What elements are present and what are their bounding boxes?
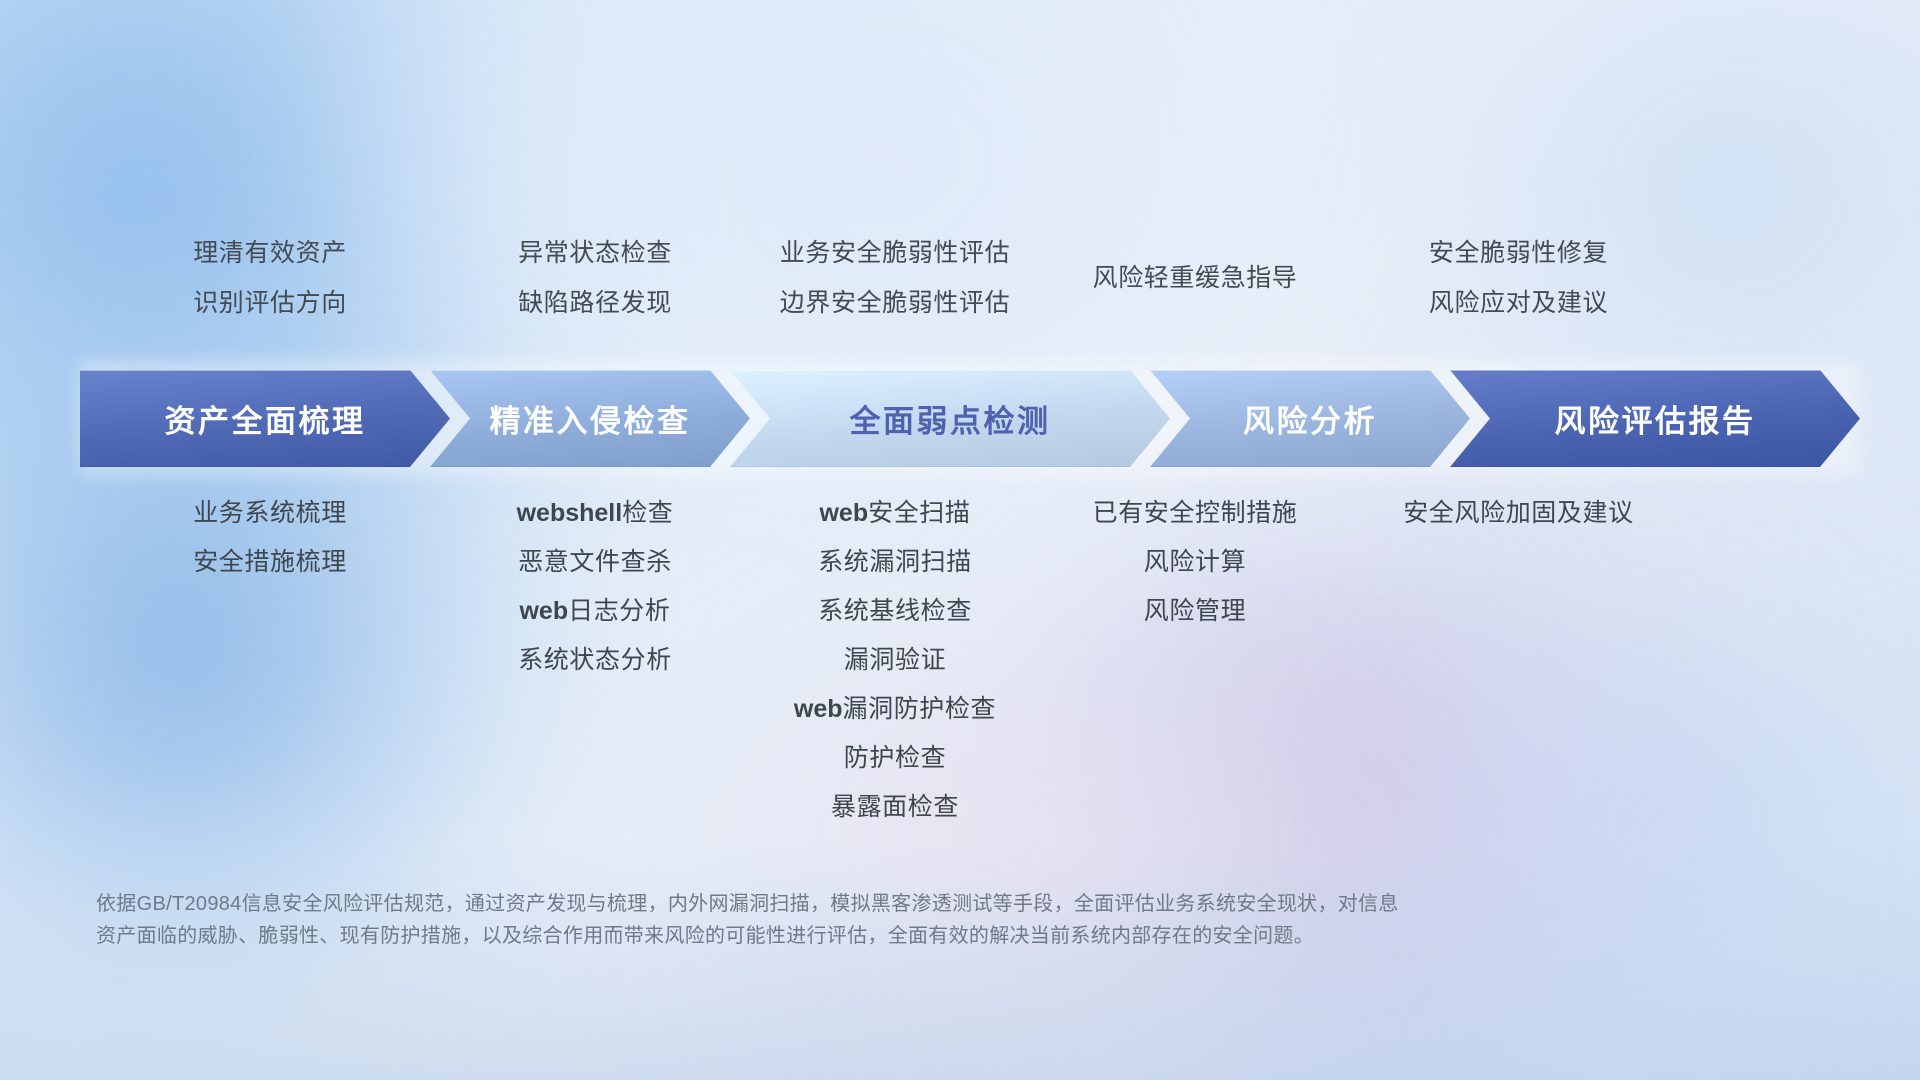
stage-column-2: 异常状态检查 缺陷路径发现 webshell检查 恶意文件查杀 web日志分析 …	[445, 228, 745, 832]
stage-3-bottom-item: 暴露面检查	[831, 783, 959, 832]
process-stage-4-label: 风险分析	[1243, 396, 1377, 441]
stage-3-bottom-item: 防护检查	[844, 734, 946, 783]
stage-3-bottom-item: 漏洞验证	[844, 636, 946, 685]
stage-4-bottom-list: 已有安全控制措施 风险计算 风险管理	[1045, 453, 1345, 636]
stage-3-bottom-item: 系统基线检查	[818, 587, 972, 636]
process-stage-4[interactable]: 风险分析	[1150, 370, 1470, 467]
stage-1-top-item: 识别评估方向	[193, 278, 347, 328]
stage-2-bottom-item: webshell检查	[517, 489, 674, 538]
stage-5-top-list: 安全脆弱性修复 风险应对及建议	[1345, 228, 1692, 356]
process-arrow-banner: 资产全面梳理 精准入侵检查 全面弱点检测 风险分析 风险评估报告	[80, 370, 1860, 467]
stage-1-bottom-item: 安全措施梳理	[193, 538, 347, 587]
stage-2-bottom-item: 系统状态分析	[518, 636, 672, 685]
footer-description: 依据GB/T20984信息安全风险评估规范，通过资产发现与梳理，内外网漏洞扫描，…	[96, 888, 1596, 952]
stage-5-bottom-item: 安全风险加固及建议	[1403, 489, 1633, 538]
process-stage-1[interactable]: 资产全面梳理	[80, 370, 450, 467]
footer-line-1: 依据GB/T20984信息安全风险评估规范，通过资产发现与梳理，内外网漏洞扫描，…	[96, 888, 1596, 920]
stage-3-bottom-item: web漏洞防护检查	[794, 685, 996, 734]
stage-column-3: 业务安全脆弱性评估 边界安全脆弱性评估 web安全扫描 系统漏洞扫描 系统基线检…	[745, 228, 1045, 832]
stage-4-bottom-item: 已有安全控制措施	[1093, 489, 1298, 538]
process-stage-1-label: 资产全面梳理	[165, 396, 366, 441]
stage-1-top-item: 理清有效资产	[193, 228, 347, 278]
stage-column-4: 风险轻重缓急指导 已有安全控制措施 风险计算 风险管理	[1045, 228, 1345, 832]
process-stage-2[interactable]: 精准入侵检查	[430, 370, 750, 467]
process-stage-5[interactable]: 风险评估报告	[1450, 370, 1860, 467]
stage-3-bottom-item: 系统漏洞扫描	[818, 538, 972, 587]
stage-2-top-list: 异常状态检查 缺陷路径发现	[445, 228, 745, 356]
process-stage-2-label: 精准入侵检查	[490, 396, 691, 441]
stage-1-bottom-item: 业务系统梳理	[193, 489, 347, 538]
footer-line-2: 资产面临的威胁、脆弱性、现有防护措施，以及综合作用而带来风险的可能性进行评估，全…	[96, 920, 1596, 952]
stage-3-bottom-item: web安全扫描	[819, 489, 970, 538]
stage-1-bottom-list: 业务系统梳理 安全措施梳理	[95, 453, 445, 587]
stage-3-top-list: 业务安全脆弱性评估 边界安全脆弱性评估	[745, 228, 1045, 356]
process-stage-3-label: 全面弱点检测	[850, 396, 1051, 441]
slide-canvas: 理清有效资产 识别评估方向 业务系统梳理 安全措施梳理 异常状态检查 缺陷路径发…	[0, 0, 1920, 1080]
stage-5-top-item: 风险应对及建议	[1429, 278, 1608, 328]
stage-4-bottom-item: 风险管理	[1144, 587, 1246, 636]
stage-4-bottom-item: 风险计算	[1144, 538, 1246, 587]
stage-column-1: 理清有效资产 识别评估方向 业务系统梳理 安全措施梳理	[95, 228, 445, 832]
stage-3-bottom-list: web安全扫描 系统漏洞扫描 系统基线检查 漏洞验证 web漏洞防护检查 防护检…	[745, 453, 1045, 832]
stage-4-top-list: 风险轻重缓急指导	[1045, 228, 1345, 356]
stage-5-top-item: 安全脆弱性修复	[1429, 228, 1608, 278]
stage-2-top-item: 异常状态检查	[518, 228, 672, 278]
stage-2-bottom-item: web日志分析	[519, 587, 670, 636]
stage-2-bottom-list: webshell检查 恶意文件查杀 web日志分析 系统状态分析	[445, 453, 745, 685]
stage-column-5: 安全脆弱性修复 风险应对及建议 安全风险加固及建议	[1345, 228, 1692, 832]
stage-2-top-item: 缺陷路径发现	[518, 278, 672, 328]
process-stage-5-label: 风险评估报告	[1555, 396, 1756, 441]
stage-1-top-list: 理清有效资产 识别评估方向	[95, 228, 445, 356]
process-stage-3[interactable]: 全面弱点检测	[730, 370, 1170, 467]
stage-columns: 理清有效资产 识别评估方向 业务系统梳理 安全措施梳理 异常状态检查 缺陷路径发…	[95, 228, 1848, 832]
stage-3-top-item: 边界安全脆弱性评估	[780, 278, 1010, 328]
stage-4-top-item: 风险轻重缓急指导	[1093, 253, 1298, 303]
stage-2-bottom-item: 恶意文件查杀	[518, 538, 672, 587]
slide-content: 理清有效资产 识别评估方向 业务系统梳理 安全措施梳理 异常状态检查 缺陷路径发…	[0, 0, 1920, 1080]
stage-3-top-item: 业务安全脆弱性评估	[780, 228, 1010, 278]
